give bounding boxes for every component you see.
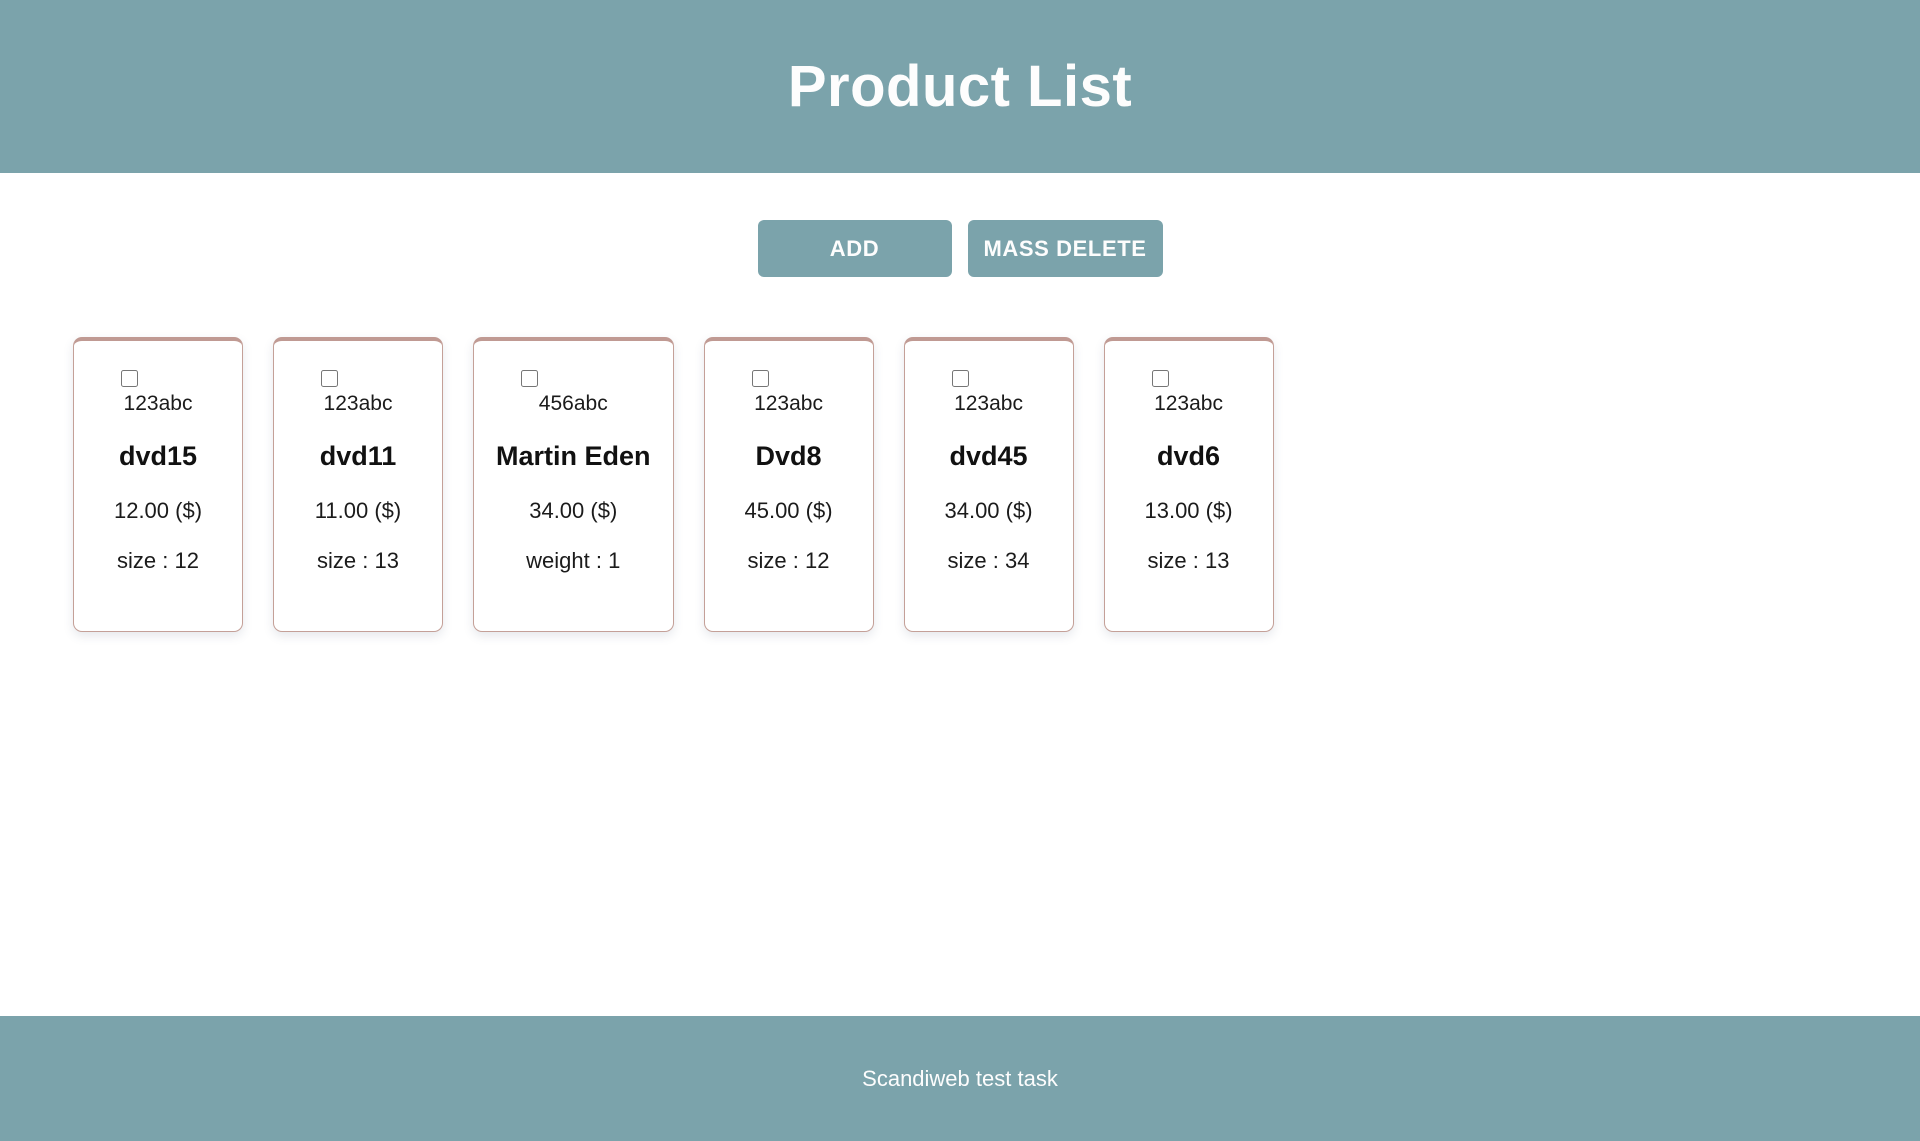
product-name: Dvd8	[756, 441, 822, 472]
product-name: dvd6	[1157, 441, 1220, 472]
footer-text: Scandiweb test task	[862, 1068, 1058, 1090]
product-checkbox-row	[296, 370, 420, 387]
product-attribute: size : 12	[748, 548, 830, 574]
product-checkbox-row	[96, 370, 220, 387]
product-sku: 123abc	[754, 391, 823, 417]
product-price: 13.00 ($)	[1144, 498, 1232, 524]
product-price: 12.00 ($)	[114, 498, 202, 524]
product-sku: 123abc	[324, 391, 393, 417]
product-delete-checkbox[interactable]	[752, 370, 769, 387]
product-name: dvd45	[949, 441, 1027, 472]
product-checkbox-row	[727, 370, 851, 387]
product-checkbox-row	[927, 370, 1051, 387]
page-title: Product List	[788, 58, 1132, 116]
product-sku: 123abc	[1154, 391, 1223, 417]
product-sku: 123abc	[954, 391, 1023, 417]
product-sku: 456abc	[539, 391, 608, 417]
product-delete-checkbox[interactable]	[1152, 370, 1169, 387]
product-attribute: size : 13	[1148, 548, 1230, 574]
product-name: dvd11	[320, 441, 397, 472]
site-footer: Scandiweb test task	[0, 1016, 1920, 1141]
product-delete-checkbox[interactable]	[952, 370, 969, 387]
main-content: ADD MASS DELETE 123abc dvd15 12.00 ($) s…	[0, 173, 1920, 1016]
add-button[interactable]: ADD	[758, 220, 952, 277]
product-card[interactable]: 123abc dvd45 34.00 ($) size : 34	[904, 337, 1074, 632]
product-attribute: size : 12	[117, 548, 199, 574]
product-checkbox-row	[496, 370, 651, 387]
product-attribute: size : 34	[948, 548, 1030, 574]
product-card[interactable]: 123abc dvd15 12.00 ($) size : 12	[73, 337, 243, 632]
site-header: Product List	[0, 0, 1920, 173]
product-delete-checkbox[interactable]	[121, 370, 138, 387]
product-attribute: size : 13	[317, 548, 399, 574]
product-delete-checkbox[interactable]	[521, 370, 538, 387]
product-price: 34.00 ($)	[944, 498, 1032, 524]
product-price: 11.00 ($)	[315, 498, 401, 524]
product-delete-checkbox[interactable]	[321, 370, 338, 387]
product-attribute: weight : 1	[526, 548, 620, 574]
product-price: 45.00 ($)	[744, 498, 832, 524]
product-card[interactable]: 123abc dvd11 11.00 ($) size : 13	[273, 337, 443, 632]
product-card[interactable]: 123abc dvd6 13.00 ($) size : 13	[1104, 337, 1274, 632]
action-toolbar: ADD MASS DELETE	[0, 173, 1920, 277]
product-name: Martin Eden	[496, 441, 651, 472]
product-price: 34.00 ($)	[529, 498, 617, 524]
product-sku: 123abc	[124, 391, 193, 417]
product-grid: 123abc dvd15 12.00 ($) size : 12 123abc …	[0, 277, 1920, 632]
product-card[interactable]: 456abc Martin Eden 34.00 ($) weight : 1	[473, 337, 674, 632]
mass-delete-button[interactable]: MASS DELETE	[968, 220, 1163, 277]
product-card[interactable]: 123abc Dvd8 45.00 ($) size : 12	[704, 337, 874, 632]
product-name: dvd15	[119, 441, 197, 472]
product-checkbox-row	[1127, 370, 1251, 387]
product-list-page: Product List ADD MASS DELETE 123abc dvd1…	[0, 0, 1920, 1141]
